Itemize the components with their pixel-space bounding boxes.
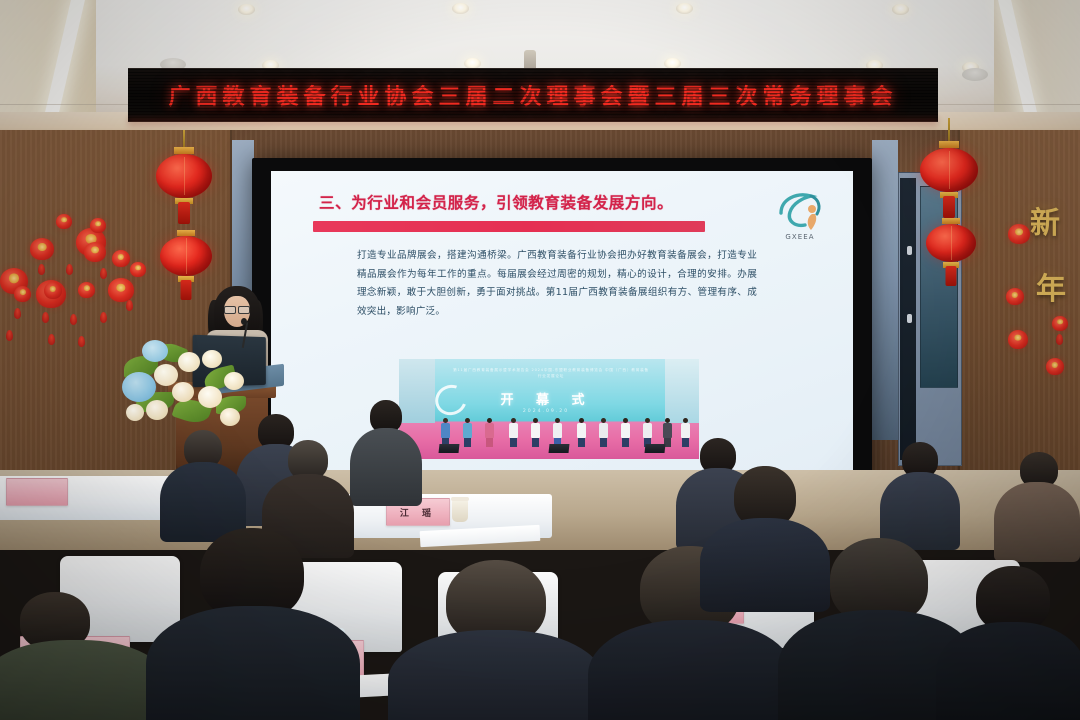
wall-character-new: 新: [1030, 198, 1060, 242]
downlight: [452, 3, 469, 14]
photo-stage-monitor: [645, 444, 666, 453]
led-banner-text: 广西教育装备行业协会三届二次理事会暨三届三次常务理事会: [168, 79, 897, 111]
wall-flower-decor: [56, 214, 72, 229]
speaker-glasses: [224, 306, 250, 312]
audience-person: [160, 430, 246, 540]
wall-flower-decor: [44, 282, 62, 299]
name-placard: [6, 478, 68, 506]
rose: [172, 382, 194, 402]
led-banner: 广西教育装备行业协会三届二次理事会暨三届三次常务理事会: [128, 68, 938, 122]
photo-stage-person: [509, 418, 518, 447]
wall-flower-decor: [14, 286, 31, 302]
wall-flower-decor: [1008, 224, 1030, 244]
paper-cup: [452, 500, 468, 522]
downlight: [238, 4, 255, 15]
red-lantern: [160, 236, 212, 276]
paper-cup-lid: [451, 497, 469, 501]
door-knob[interactable]: [907, 314, 912, 323]
placard-text: 江 瑶: [400, 506, 436, 519]
wall-leaf-decor: [1056, 334, 1063, 345]
wall-leaf-decor: [126, 300, 133, 311]
wall-leaf-decor: [38, 264, 45, 275]
wall-flower-decor: [1006, 288, 1024, 305]
wall-leaf-decor: [48, 334, 55, 345]
red-lantern: [156, 154, 212, 198]
wall-flower-decor: [78, 282, 95, 298]
hydrangea: [122, 372, 156, 402]
wall-flower-decor: [112, 250, 130, 267]
wall-flower-decor: [1046, 358, 1064, 375]
wall-flower-decor: [1052, 316, 1068, 331]
wall-leaf-decor: [66, 264, 73, 275]
wall-leaf-decor: [14, 308, 21, 319]
conference-photo-scene: 广西教育装备行业协会三届二次理事会暨三届三次常务理事会 三、为行业和会员服务，引…: [0, 0, 1080, 720]
photo-stage-monitor: [549, 444, 570, 453]
gxeea-logo-icon: [773, 187, 827, 239]
audience-person: [994, 452, 1080, 560]
door-knob[interactable]: [907, 246, 912, 255]
gxeea-wordmark: GXEEA: [773, 233, 827, 241]
audience-person-foreground: [0, 592, 170, 720]
slide-body-text: 打造专业品牌展会，搭建沟通桥梁。广西教育装备行业协会把办好教育装备展会，打造专业…: [357, 247, 757, 322]
downlight: [892, 4, 909, 15]
wall-leaf-decor: [6, 330, 13, 341]
wall-flower-decor: [30, 238, 54, 260]
window-column-right: [872, 140, 898, 440]
photo-stage-person: [553, 418, 562, 447]
wall-leaf-decor: [78, 336, 85, 347]
audience-person-foreground: [936, 566, 1080, 720]
rose: [202, 350, 222, 368]
photo-stage-person: [599, 418, 608, 447]
wall-leaf-decor: [100, 268, 107, 279]
audience-person-foreground: [388, 560, 604, 720]
photo-date: 2024.09.20: [491, 409, 601, 414]
slide-accent-bar: [313, 221, 705, 232]
photo-stage-monitor: [439, 444, 460, 453]
wall-leaf-decor: [100, 312, 107, 323]
photo-headline: 开 幕 式: [451, 389, 643, 408]
wall-leaf-decor: [42, 312, 49, 323]
led-banner-glow: [128, 118, 938, 130]
rose: [178, 352, 200, 372]
audience-person-foreground: [146, 528, 360, 720]
photo-stage-person: [531, 418, 540, 447]
photo-stage-person: [663, 418, 672, 447]
photo-stage-person: [441, 418, 450, 447]
photo-hall-right: [665, 359, 699, 425]
rose: [224, 372, 244, 390]
wall-flower-decor: [90, 218, 106, 233]
photo-stage-person: [643, 418, 652, 447]
projection-screen: 三、为行业和会员服务，引领教育装备发展方向。 GXEEA 打造专业品牌展会，搭建…: [252, 158, 872, 488]
downlight: [676, 3, 693, 14]
audience-person-foreground: [700, 466, 830, 606]
wall-flower-decor: [1008, 330, 1028, 349]
photo-stage-person: [577, 418, 586, 447]
photo-subline: 第11届广西教育装备展示暨学术报告会 2024中国-东盟职业教育装备博览会 中国…: [451, 367, 651, 379]
rose: [198, 386, 222, 408]
wall-flower-decor: [84, 242, 106, 262]
wall-character-year: 年: [1036, 264, 1066, 308]
red-lantern: [926, 224, 976, 262]
wall-flower-decor: [108, 278, 134, 302]
photo-stage-person: [485, 418, 494, 447]
photo-stage-person: [463, 418, 472, 447]
wall-leaf-decor: [70, 314, 77, 325]
hydrangea: [142, 340, 168, 362]
rose: [154, 364, 178, 386]
audience-person: [880, 442, 960, 548]
rose: [146, 400, 168, 420]
slide-title: 三、为行业和会员服务，引领教育装备发展方向。: [319, 191, 673, 213]
microphone-head: [241, 318, 247, 325]
wall-flower-decor: [130, 262, 146, 277]
red-lantern: [920, 148, 978, 192]
rose: [126, 404, 144, 421]
ceiling-speaker: [962, 68, 988, 81]
slide-embedded-photo: 第11届广西教育装备展示暨学术报告会 2024中国-东盟职业教育装备博览会 中国…: [399, 359, 699, 459]
photo-stage-person: [621, 418, 630, 447]
audience-person: [350, 400, 422, 504]
